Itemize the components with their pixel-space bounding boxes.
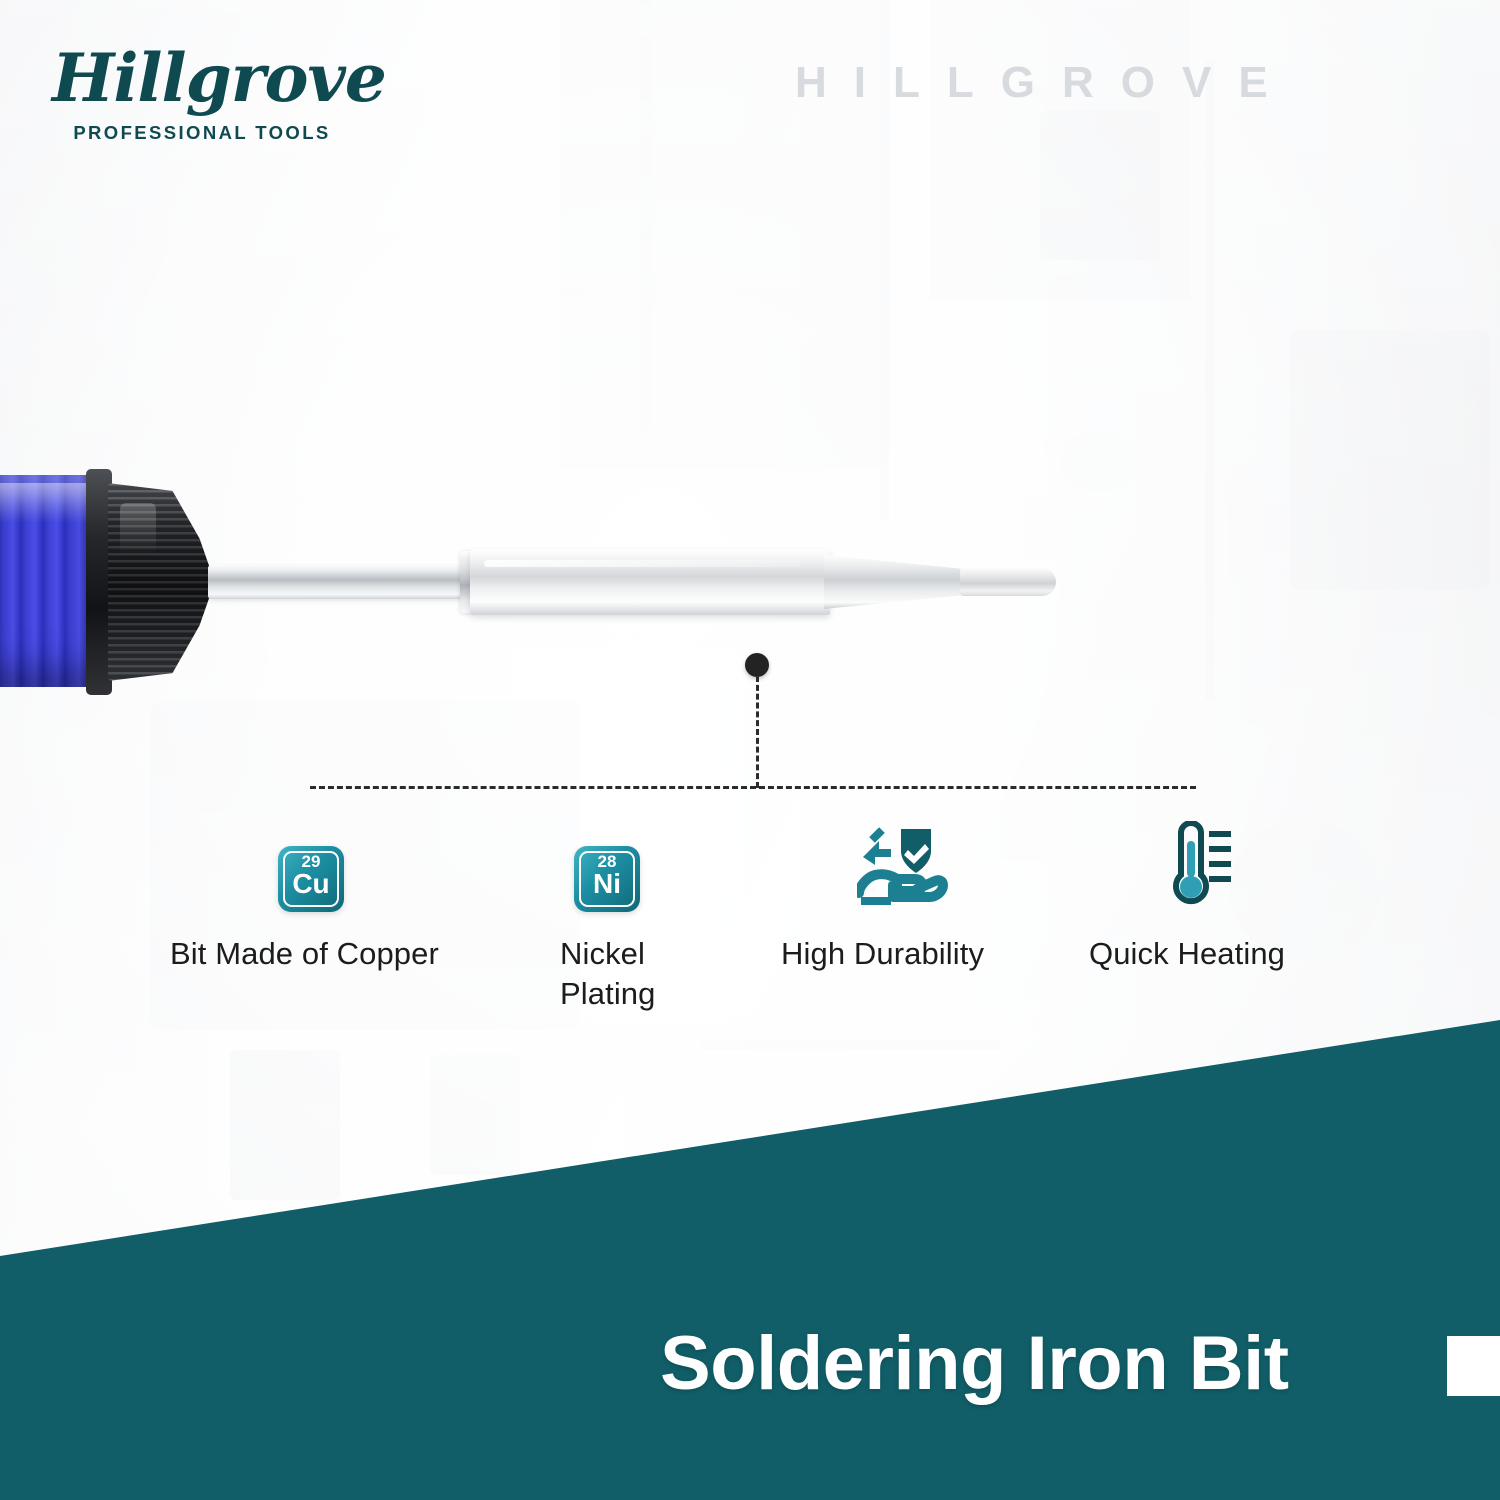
callout-dot: [745, 653, 769, 677]
product-marketing-image: Hillgrove PROFESSIONAL TOOLS HILLGROVE 2…: [0, 0, 1500, 1500]
feature-item-durability: High Durability: [781, 826, 984, 974]
bit-body: [470, 549, 830, 615]
callout-horizontal-line: [310, 786, 1196, 789]
hand-holding-shield-check-icon: [857, 827, 949, 912]
feature-icon-wrap: [781, 826, 984, 912]
bit-tip: [960, 568, 1056, 596]
feature-icon-wrap: [1089, 826, 1285, 912]
black-ferrule: [108, 483, 212, 681]
feature-label-nickel: Nickel Plating: [560, 934, 656, 1013]
feature-row: 29 Cu Bit Made of Copper 28 Ni Nickel Pl…: [0, 826, 1500, 1016]
element-symbol: Ni: [574, 870, 640, 898]
logo-tagline: PROFESSIONAL TOOLS: [52, 122, 352, 144]
title-accent-block: [1447, 1336, 1500, 1396]
feature-item-copper: 29 Cu Bit Made of Copper: [170, 826, 439, 974]
feature-item-nickel: 28 Ni Nickel Plating: [560, 826, 656, 1013]
element-tile-copper-icon: 29 Cu: [278, 846, 344, 912]
thermometer-icon: [1161, 821, 1233, 912]
feature-icon-wrap: 28 Ni: [560, 826, 656, 912]
feature-label-heating: Quick Heating: [1089, 934, 1285, 974]
product-photo-soldering-iron: [0, 455, 1102, 715]
feature-icon-wrap: 29 Cu: [170, 826, 439, 912]
callout-vertical-line: [756, 676, 759, 788]
logo-wordmark: Hillgrove: [52, 45, 352, 111]
bit-taper: [824, 555, 964, 609]
feature-label-copper: Bit Made of Copper: [170, 934, 439, 974]
element-tile-nickel-icon: 28 Ni: [574, 846, 640, 912]
handle-grip: [0, 475, 100, 687]
element-symbol: Cu: [278, 870, 344, 898]
feature-item-heating: Quick Heating: [1089, 826, 1285, 974]
product-title: Soldering Iron Bit: [660, 1320, 1289, 1407]
metal-shaft: [208, 565, 466, 599]
watermark-text: HILLGROVE: [795, 58, 1295, 108]
feature-label-durability: High Durability: [781, 934, 984, 974]
brand-logo: Hillgrove PROFESSIONAL TOOLS: [52, 45, 352, 144]
